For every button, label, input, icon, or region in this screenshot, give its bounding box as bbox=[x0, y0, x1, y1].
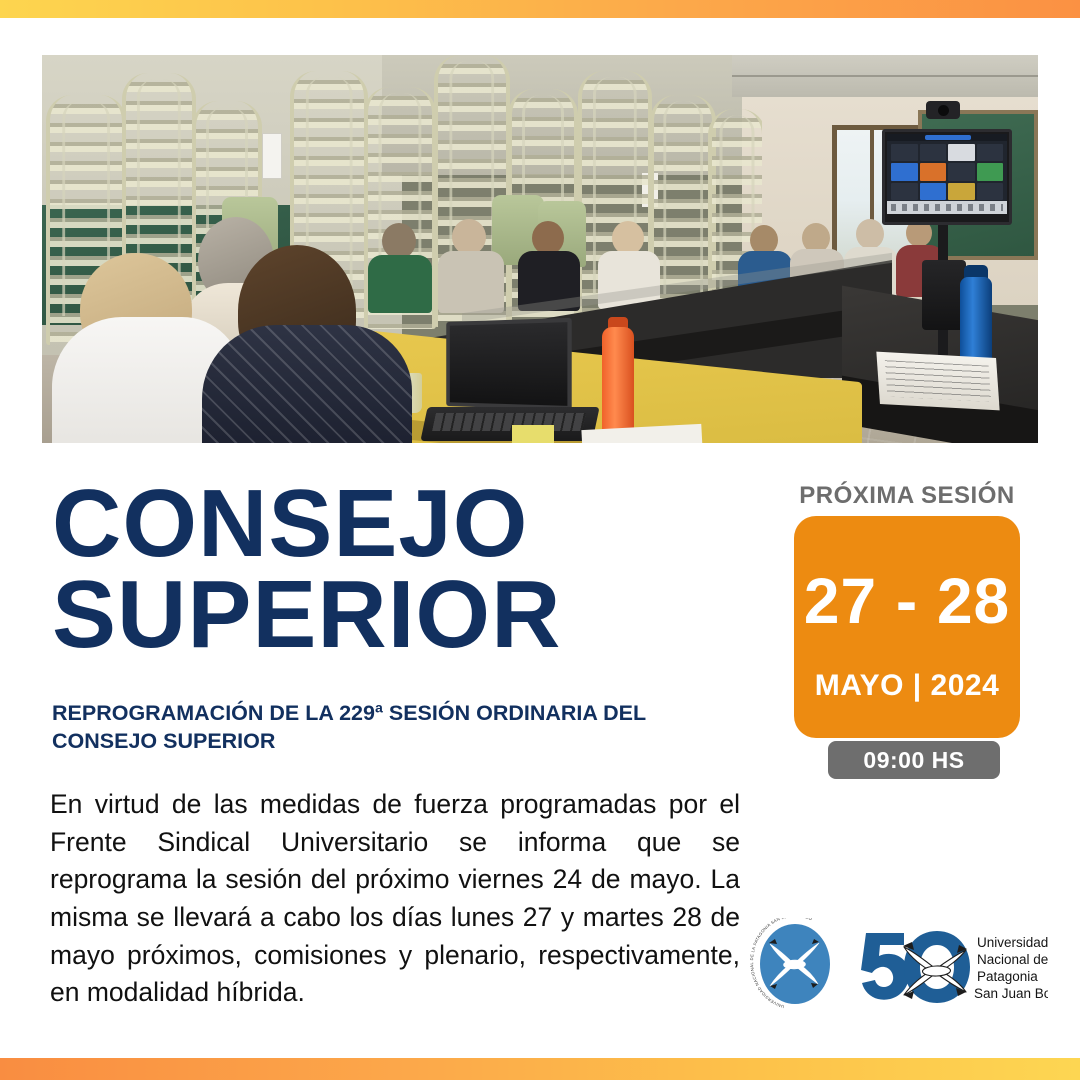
photo-ceiling-line bbox=[732, 75, 1038, 77]
next-session-label: PRÓXIMA SESIÓN bbox=[794, 482, 1020, 510]
photo-notepad bbox=[512, 425, 554, 443]
time-badge: 09:00 HS bbox=[828, 741, 1000, 779]
photo-orange-bottle bbox=[602, 327, 634, 435]
fifty-anniversary-icon: Universidad Nacional de la Patagonia San… bbox=[858, 925, 1048, 1009]
photo-videoconference-grid bbox=[891, 144, 1003, 200]
date-month-year: MAYO | 2024 bbox=[815, 669, 1000, 703]
headline-line-2: SUPERIOR bbox=[52, 569, 752, 660]
photo-laptop-keyboard bbox=[432, 413, 586, 431]
university-line-2: Nacional de la bbox=[977, 952, 1048, 967]
university-line-1: Universidad bbox=[977, 935, 1048, 950]
top-gradient-bar bbox=[0, 0, 1080, 18]
anniversary-50-logo: Universidad Nacional de la Patagonia San… bbox=[858, 925, 1048, 1009]
photo-laptop-screen bbox=[446, 318, 571, 410]
bottom-gradient-bar bbox=[0, 1058, 1080, 1080]
meeting-photo bbox=[42, 55, 1038, 443]
photo-papers-text bbox=[885, 360, 991, 402]
photo-camera-lens bbox=[938, 105, 949, 116]
photo-tv-tray-icons bbox=[891, 204, 1003, 211]
photo-tv-topbar bbox=[887, 134, 1007, 141]
date-days: 27 - 28 bbox=[804, 569, 1010, 633]
photo-person-dark-body bbox=[202, 325, 412, 443]
albatross-seal-icon: UNIVERSIDAD NACIONAL DE LA PATAGONIA SAN… bbox=[748, 918, 842, 1012]
subtitle: REPROGRAMACIÓN DE LA 229ª SESIÓN ORDINAR… bbox=[52, 700, 712, 755]
university-seal-logo: UNIVERSIDAD NACIONAL DE LA PATAGONIA SAN… bbox=[748, 918, 842, 1012]
date-card: 27 - 28 MAYO | 2024 bbox=[794, 516, 1020, 738]
university-line-4: San Juan Bosco bbox=[974, 986, 1048, 1001]
page-title: CONSEJO SUPERIOR bbox=[52, 478, 752, 660]
poster-canvas: CONSEJO SUPERIOR REPROGRAMACIÓN DE LA 22… bbox=[0, 0, 1080, 1080]
university-line-3: Patagonia bbox=[977, 969, 1038, 984]
body-text: En virtud de las medidas de fuerza progr… bbox=[50, 786, 740, 1012]
